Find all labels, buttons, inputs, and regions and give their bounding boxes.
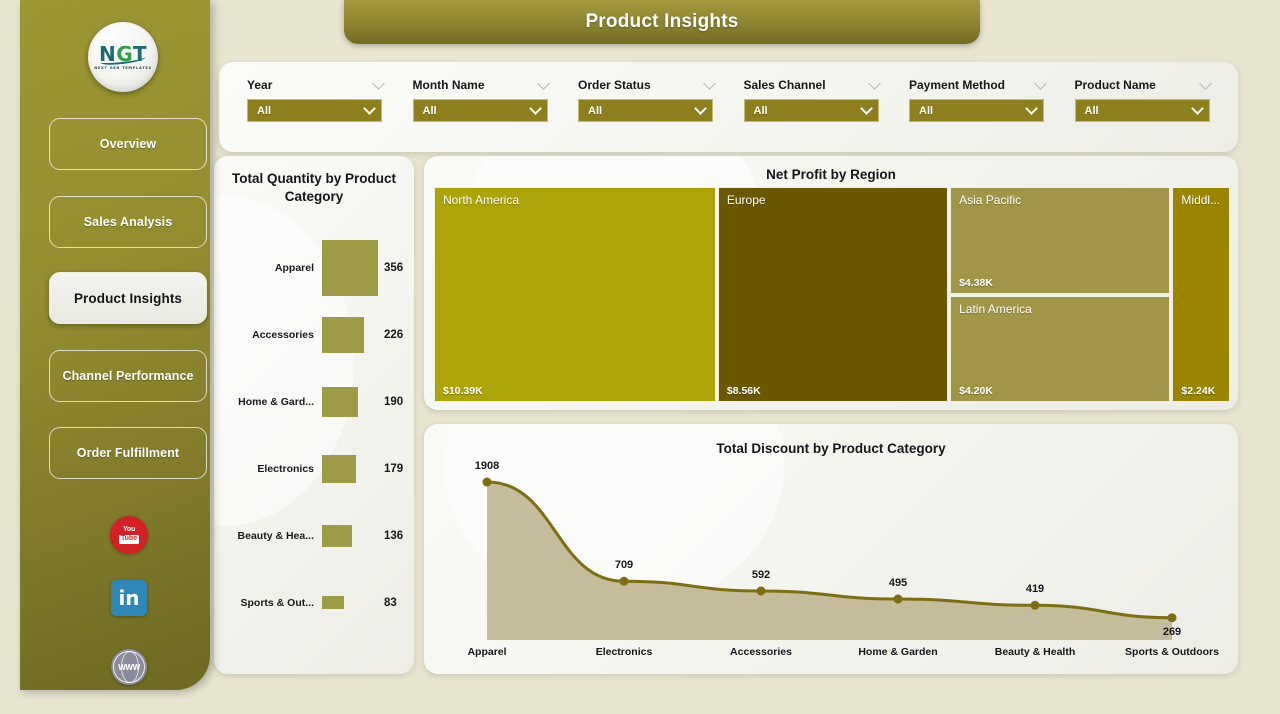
slicer-year: Year All: [233, 78, 395, 122]
slicer-label: Month Name: [413, 78, 485, 92]
data-point-label: 269: [1163, 626, 1181, 638]
bar-chart-plot: Apparel356Accessories226Home & Gard...19…: [222, 234, 406, 636]
slicer-label: Year: [247, 78, 272, 92]
slicer-dropdown-year[interactable]: All: [247, 99, 382, 122]
treemap-tile[interactable]: Middl...$2.24K: [1172, 187, 1230, 402]
treemap-tile-label: Europe: [727, 193, 766, 207]
bar-track: [322, 374, 378, 430]
treemap-tile[interactable]: North America$10.39K: [434, 187, 716, 402]
slicer-value: All: [423, 105, 437, 117]
bar-value-label: 226: [378, 329, 403, 341]
sidebar-item-order-fulfillment[interactable]: Order Fulfillment: [49, 427, 207, 479]
chevron-down-icon[interactable]: [1034, 77, 1047, 90]
data-point-label: 419: [1026, 583, 1044, 595]
chevron-down-icon[interactable]: [537, 77, 550, 90]
slicer-label: Payment Method: [909, 78, 1005, 92]
youtube-icon-line2: Tube: [119, 535, 139, 544]
slicer-label: Product Name: [1075, 78, 1156, 92]
bar-value-label: 179: [378, 463, 403, 475]
bar-row[interactable]: Beauty & Hea...136: [222, 502, 406, 569]
youtube-icon: You Tube: [110, 516, 148, 554]
linkedin-icon-label: in: [118, 588, 139, 608]
slicer-order-status: Order Status All: [564, 78, 726, 122]
sidebar-item-label: Order Fulfillment: [77, 446, 179, 460]
chevron-down-icon: [363, 102, 376, 115]
treemap-tile-value: $4.38K: [959, 277, 993, 289]
chevron-down-icon: [1191, 102, 1204, 115]
website-link[interactable]: WWW: [110, 648, 148, 686]
data-point-label: 495: [889, 577, 907, 589]
treemap-tile-value: $4.20K: [959, 385, 993, 397]
page-title: Product Insights: [585, 11, 738, 33]
bar-category-label: Sports & Out...: [222, 597, 322, 609]
slicer-dropdown-sales-channel[interactable]: All: [744, 99, 879, 122]
bar-category-label: Beauty & Hea...: [222, 530, 322, 542]
chevron-down-icon[interactable]: [703, 77, 716, 90]
data-point[interactable]: [894, 595, 903, 604]
chevron-down-icon[interactable]: [1199, 77, 1212, 90]
data-point[interactable]: [620, 577, 629, 586]
bar-row[interactable]: Home & Gard...190: [222, 368, 406, 435]
slicer-value: All: [588, 105, 602, 117]
bar-category-label: Apparel: [222, 262, 322, 274]
logo-tagline: NEXT GEN TEMPLATES: [88, 67, 158, 71]
bar-track: [322, 508, 378, 564]
data-point[interactable]: [1168, 613, 1177, 622]
filter-bar: Year All Month Name All Order Status All: [219, 62, 1238, 152]
slicer-sales-channel: Sales Channel All: [730, 78, 892, 122]
chevron-down-icon: [694, 102, 707, 115]
sidebar: NGT NEXT GEN TEMPLATES Overview Sales An…: [20, 0, 210, 690]
x-axis-label: Sports & Outdoors: [1125, 646, 1219, 658]
sidebar-item-label: Product Insights: [74, 291, 182, 306]
treemap-card: Net Profit by Region North America$10.39…: [424, 156, 1238, 410]
sidebar-item-label: Sales Analysis: [84, 215, 173, 229]
x-axis-label: Apparel: [467, 646, 506, 658]
x-axis-label: Home & Garden: [858, 646, 937, 658]
youtube-link[interactable]: You Tube: [110, 516, 148, 554]
chevron-down-icon: [529, 102, 542, 115]
slicer-value: All: [257, 105, 271, 117]
bar-row[interactable]: Electronics179: [222, 435, 406, 502]
treemap-tile[interactable]: Latin America$4.20K: [950, 296, 1170, 403]
chevron-down-icon: [860, 102, 873, 115]
brand-logo: NGT NEXT GEN TEMPLATES: [88, 22, 158, 92]
slicer-value: All: [1085, 105, 1099, 117]
chevron-down-icon: [1025, 102, 1038, 115]
treemap-tile-value: $8.56K: [727, 385, 761, 397]
sidebar-item-overview[interactable]: Overview: [49, 118, 207, 170]
treemap-column: Asia Pacific$4.38KLatin America$4.20K: [950, 187, 1170, 402]
sidebar-item-label: Channel Performance: [62, 369, 193, 383]
slicer-label: Sales Channel: [744, 78, 826, 92]
linkedin-icon: in: [111, 580, 147, 616]
chevron-down-icon[interactable]: [372, 77, 385, 90]
slicer-month-name: Month Name All: [399, 78, 561, 122]
data-point[interactable]: [483, 478, 492, 487]
data-point-label: 1908: [475, 460, 499, 472]
bar-value-label: 136: [378, 530, 403, 542]
bar-row[interactable]: Apparel356: [222, 234, 406, 301]
area-chart-title: Total Discount by Product Category: [424, 440, 1238, 458]
bar-category-label: Home & Gard...: [222, 396, 322, 408]
bar-fill[interactable]: [322, 455, 356, 483]
treemap-tile-label: Middl...: [1181, 193, 1220, 207]
bar-row[interactable]: Accessories226: [222, 301, 406, 368]
header-banner: Product Insights: [344, 0, 980, 44]
data-point[interactable]: [757, 586, 766, 595]
bar-track: [322, 240, 378, 296]
treemap-tile[interactable]: Europe$8.56K: [718, 187, 948, 402]
bar-category-label: Accessories: [222, 329, 322, 341]
bar-fill[interactable]: [322, 596, 344, 609]
chevron-down-icon[interactable]: [868, 77, 881, 90]
area-chart-card: Total Discount by Product Category 19087…: [424, 424, 1238, 674]
slicer-value: All: [754, 105, 768, 117]
bar-category-label: Electronics: [222, 463, 322, 475]
slicer-label: Order Status: [578, 78, 651, 92]
area-fill: [487, 482, 1172, 640]
sidebar-item-sales-analysis[interactable]: Sales Analysis: [49, 196, 207, 248]
slicer-payment-method: Payment Method All: [895, 78, 1057, 122]
bar-chart-title: Total Quantity by Product Category: [222, 170, 406, 206]
bar-fill[interactable]: [322, 317, 364, 353]
www-icon-label: WWW: [118, 663, 139, 672]
treemap-tile-value: $10.39K: [443, 385, 483, 397]
x-axis-label: Beauty & Health: [995, 646, 1076, 658]
bar-value-label: 190: [378, 396, 403, 408]
bar-track: [322, 307, 378, 363]
sidebar-item-label: Overview: [100, 137, 156, 151]
slicer-dropdown-product-name[interactable]: All: [1075, 99, 1210, 122]
bar-value-label: 356: [378, 262, 403, 274]
slicer-product-name: Product Name All: [1061, 78, 1223, 122]
bar-value-label: 83: [378, 597, 397, 609]
x-axis-label: Electronics: [596, 646, 653, 658]
area-chart-plot: 1908709592495419269ApparelElectronicsAcc…: [424, 460, 1238, 674]
treemap-tile[interactable]: Asia Pacific$4.38K: [950, 187, 1170, 294]
slicer-dropdown-month-name[interactable]: All: [413, 99, 548, 122]
sidebar-item-channel-performance[interactable]: Channel Performance: [49, 350, 207, 402]
slicer-value: All: [919, 105, 933, 117]
slicer-dropdown-payment-method[interactable]: All: [909, 99, 1044, 122]
bar-track: [322, 575, 378, 631]
treemap-title: Net Profit by Region: [424, 166, 1238, 184]
bar-fill[interactable]: [322, 240, 378, 296]
bar-track: [322, 441, 378, 497]
bar-fill[interactable]: [322, 525, 352, 546]
bar-row[interactable]: Sports & Out...83: [222, 569, 406, 636]
www-icon: WWW: [111, 649, 147, 685]
treemap-tile-label: North America: [443, 193, 519, 207]
sidebar-item-product-insights[interactable]: Product Insights: [49, 272, 207, 324]
bar-fill[interactable]: [322, 387, 358, 417]
area-chart-svg: [424, 460, 1238, 674]
bar-chart-card: Total Quantity by Product Category Appar…: [214, 156, 414, 674]
slicer-dropdown-order-status[interactable]: All: [578, 99, 713, 122]
data-point[interactable]: [1031, 601, 1040, 610]
youtube-icon-line1: You: [123, 526, 135, 533]
x-axis-label: Accessories: [730, 646, 792, 658]
treemap-tile-label: Asia Pacific: [959, 193, 1021, 207]
treemap-plot: North America$10.39KEurope$8.56KAsia Pac…: [434, 187, 1230, 402]
linkedin-link[interactable]: in: [110, 579, 148, 617]
data-point-label: 709: [615, 559, 633, 571]
treemap-tile-label: Latin America: [959, 302, 1032, 316]
data-point-label: 592: [752, 569, 770, 581]
treemap-tile-value: $2.24K: [1181, 385, 1215, 397]
